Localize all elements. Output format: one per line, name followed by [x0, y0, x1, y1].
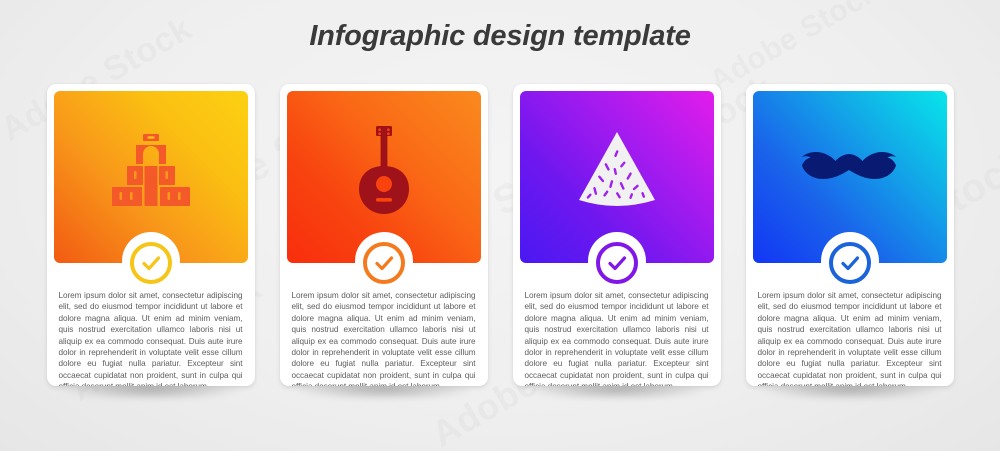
mustache-icon	[753, 91, 947, 249]
card-body[interactable]: Lorem ipsum dolor sit amet, consectetur …	[513, 84, 721, 386]
card-description: Lorem ipsum dolor sit amet, consectetur …	[59, 290, 243, 386]
infographic-canvas: Adobe Stock Adobe Stock Adobe Stock Adob…	[0, 0, 1000, 451]
pyramid-icon	[54, 91, 248, 249]
check-icon	[605, 251, 629, 275]
check-icon	[139, 251, 163, 275]
card-pyramid[interactable]: Lorem ipsum dolor sit amet, consectetur …	[47, 84, 255, 404]
check-icon	[372, 251, 396, 275]
guitar-icon	[287, 91, 481, 249]
check-icon	[838, 251, 862, 275]
check-badge[interactable]	[363, 242, 405, 284]
card-party-hat[interactable]: Lorem ipsum dolor sit amet, consectetur …	[513, 84, 721, 404]
card-body[interactable]: Lorem ipsum dolor sit amet, consectetur …	[280, 84, 488, 386]
card-description: Lorem ipsum dolor sit amet, consectetur …	[758, 290, 942, 386]
card-gradient-panel	[54, 91, 248, 263]
card-description: Lorem ipsum dolor sit amet, consectetur …	[525, 290, 709, 386]
card-gradient-panel	[287, 91, 481, 263]
card-gradient-panel	[753, 91, 947, 263]
party-hat-icon	[520, 91, 714, 249]
page-title: Infographic design template	[0, 20, 1000, 53]
check-badge[interactable]	[829, 242, 871, 284]
card-list: Lorem ipsum dolor sit amet, consectetur …	[0, 84, 1000, 404]
card-mustache[interactable]: Lorem ipsum dolor sit amet, consectetur …	[746, 84, 954, 404]
card-guitar[interactable]: Lorem ipsum dolor sit amet, consectetur …	[280, 84, 488, 404]
card-gradient-panel	[520, 91, 714, 263]
check-badge[interactable]	[130, 242, 172, 284]
card-body[interactable]: Lorem ipsum dolor sit amet, consectetur …	[746, 84, 954, 386]
card-body[interactable]: Lorem ipsum dolor sit amet, consectetur …	[47, 84, 255, 386]
check-badge[interactable]	[596, 242, 638, 284]
card-description: Lorem ipsum dolor sit amet, consectetur …	[292, 290, 476, 386]
